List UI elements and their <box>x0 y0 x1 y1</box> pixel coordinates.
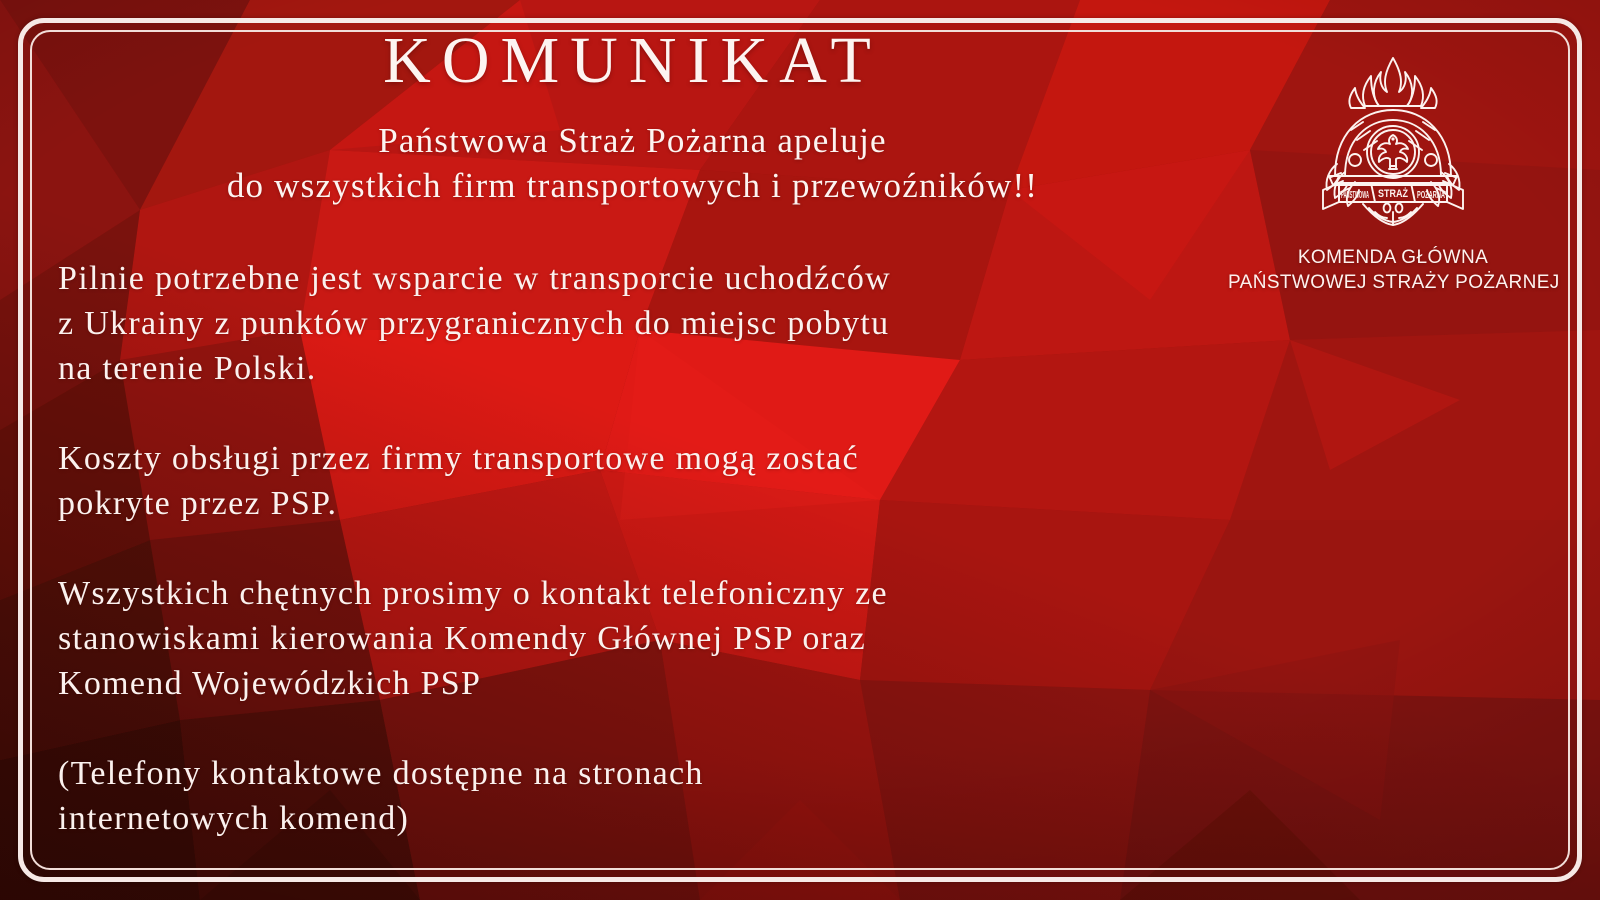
paragraph-3-line-1: Wszystkich chętnych prosimy o kontakt te… <box>58 571 1238 616</box>
paragraph-2: Koszty obsługi przez firmy transportowe … <box>58 436 1238 526</box>
psp-emblem-block: PAŃSTWOWA STRAŻ POŻARNA KOMENDA GŁÓWNA P… <box>1228 52 1558 295</box>
paragraph-3-line-3: Komend Wojewódzkich PSP <box>58 661 1238 706</box>
paragraph-4-line-1: (Telefony kontaktowe dostępne na stronac… <box>58 751 1238 796</box>
paragraph-1-line-2: z Ukrainy z punktów przygranicznych do m… <box>58 301 1238 346</box>
paragraph-2-line-2: pokryte przez PSP. <box>58 481 1238 526</box>
emblem-banner-left: PAŃSTWOWA <box>1341 188 1369 201</box>
paragraph-1-line-1: Pilnie potrzebne jest wsparcie w transpo… <box>58 256 1238 301</box>
page-title: KOMUNIKAT <box>0 28 1265 94</box>
emblem-caption: KOMENDA GŁÓWNA PAŃSTWOWEJ STRAŻY POŻARNE… <box>1228 245 1558 295</box>
subtitle-line-1: Państwowa Straż Pożarna apeluje <box>0 118 1265 163</box>
emblem-banner-right: POŻARNA <box>1417 188 1445 201</box>
announcement-body: Pilnie potrzebne jest wsparcie w transpo… <box>58 256 1238 841</box>
paragraph-1: Pilnie potrzebne jest wsparcie w transpo… <box>58 256 1238 391</box>
subtitle-line-2: do wszystkich firm transportowych i prze… <box>0 163 1265 208</box>
emblem-banner-center: STRAŻ <box>1378 187 1408 200</box>
subtitle: Państwowa Straż Pożarna apeluje do wszys… <box>0 118 1265 208</box>
komunikat-poster: KOMUNIKAT Państwowa Straż Pożarna apeluj… <box>0 0 1600 900</box>
paragraph-4: (Telefony kontaktowe dostępne na stronac… <box>58 751 1238 841</box>
paragraph-3: Wszystkich chętnych prosimy o kontakt te… <box>58 571 1238 706</box>
psp-emblem-icon: PAŃSTWOWA STRAŻ POŻARNA <box>1293 52 1493 237</box>
emblem-caption-line-2: PAŃSTWOWEJ STRAŻY POŻARNEJ <box>1228 270 1558 295</box>
emblem-caption-line-1: KOMENDA GŁÓWNA <box>1228 245 1558 270</box>
paragraph-4-line-2: internetowych komend) <box>58 796 1238 841</box>
paragraph-3-line-2: stanowiskami kierowania Komendy Głównej … <box>58 616 1238 661</box>
poster-content: KOMUNIKAT Państwowa Straż Pożarna apeluj… <box>0 0 1600 900</box>
paragraph-2-line-1: Koszty obsługi przez firmy transportowe … <box>58 436 1238 481</box>
paragraph-1-line-3: na terenie Polski. <box>58 346 1238 391</box>
